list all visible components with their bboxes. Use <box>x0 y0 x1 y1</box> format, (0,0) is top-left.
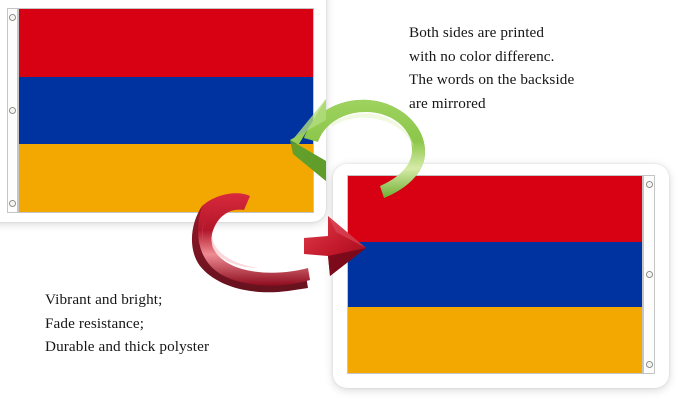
stripe-red <box>19 9 313 77</box>
stripe-red <box>348 176 642 242</box>
grommet-icon <box>646 361 653 368</box>
armenian-flag-front <box>7 8 314 213</box>
caption-top-right: Both sides are printed with no color dif… <box>409 21 574 115</box>
caption-bottom-left: Vibrant and bright; Fade resistance; Dur… <box>45 288 209 359</box>
stripe-blue <box>348 242 642 308</box>
grommet-icon <box>9 200 16 207</box>
stripe-orange <box>19 144 313 212</box>
flag-sleeve-right <box>643 175 655 374</box>
flag-sleeve-left <box>7 8 18 213</box>
flag-stripes-back <box>347 175 643 374</box>
stripe-blue <box>19 77 313 145</box>
grommet-icon <box>646 181 653 188</box>
grommet-icon <box>9 107 16 114</box>
flag-stripes-front <box>18 8 314 213</box>
grommet-icon <box>9 14 16 21</box>
stripe-orange <box>348 307 642 373</box>
armenian-flag-back-mirrored <box>347 175 655 374</box>
grommet-icon <box>646 271 653 278</box>
product-image-canvas: Both sides are printed with no color dif… <box>0 0 679 408</box>
